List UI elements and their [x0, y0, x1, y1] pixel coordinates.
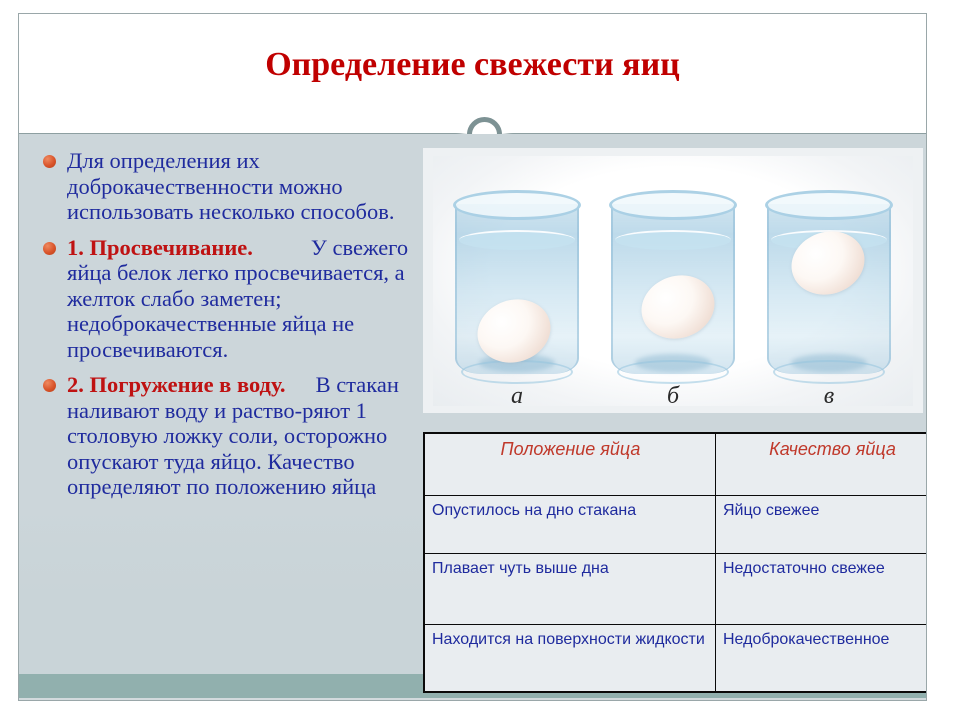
- glass-rim: [765, 190, 893, 220]
- table-row: Находится на поверхности жидкости Недобр…: [424, 624, 927, 692]
- cell-quality: Недостаточно свежее: [716, 553, 928, 624]
- glass-label-a: а: [455, 383, 579, 410]
- table-row: Плавает чуть выше дна Недостаточно свеже…: [424, 553, 927, 624]
- bullet-list: Для определения их доброкачественности м…: [31, 148, 431, 510]
- slide: Определение свежести яиц Для определения…: [18, 13, 927, 701]
- cell-position: Плавает чуть выше дна: [424, 553, 716, 624]
- table-header-row: Положение яйца Качество яйца: [424, 433, 927, 495]
- water-surface: [615, 230, 731, 250]
- glass-rim: [609, 190, 737, 220]
- bullet-dot-icon: [43, 155, 56, 168]
- list-item-text: Для определения их доброкачественности м…: [67, 148, 394, 224]
- table-row: Опустилось на дно стакана Яйцо свежее: [424, 495, 927, 553]
- column-header-quality: Качество яйца: [716, 433, 928, 495]
- glass-v: в: [767, 190, 891, 376]
- cell-quality: Яйцо свежее: [716, 495, 928, 553]
- list-item-lead: 1. Просвечивание.: [67, 235, 253, 260]
- glass-rim: [453, 190, 581, 220]
- list-item: Для определения их доброкачественности м…: [31, 148, 431, 225]
- egg-quality-table: Положение яйца Качество яйца Опустилось …: [423, 432, 927, 693]
- footer-band-light: [19, 698, 926, 701]
- column-header-position: Положение яйца: [424, 433, 716, 495]
- illustration-canvas: а б: [433, 156, 913, 406]
- slide-body: Для определения их доброкачественности м…: [19, 134, 926, 701]
- bullet-dot-icon: [43, 379, 56, 392]
- slide-header: Определение свежести яиц: [19, 14, 926, 133]
- glass-base: [773, 360, 885, 384]
- page-title: Определение свежести яиц: [19, 46, 926, 84]
- cell-quality: Недоброкачественное: [716, 624, 928, 692]
- glass-b: б: [611, 190, 735, 376]
- glass-base: [461, 360, 573, 384]
- list-item: 2. Погружение в воду.В стакан наливают в…: [31, 372, 431, 500]
- list-item: 1. Просвечивание.У свежего яйца белок ле…: [31, 235, 431, 363]
- glass-label-v: в: [767, 383, 891, 410]
- water-surface: [459, 230, 575, 250]
- cell-position: Опустилось на дно стакана: [424, 495, 716, 553]
- list-item-lead: 2. Погружение в воду.: [67, 372, 286, 397]
- egg-float-illustration: а б: [423, 148, 923, 413]
- bullet-dot-icon: [43, 242, 56, 255]
- glass-label-b: б: [611, 383, 735, 410]
- glass-base: [617, 360, 729, 384]
- glass-a: а: [455, 190, 579, 376]
- cell-position: Находится на поверхности жидкости: [424, 624, 716, 692]
